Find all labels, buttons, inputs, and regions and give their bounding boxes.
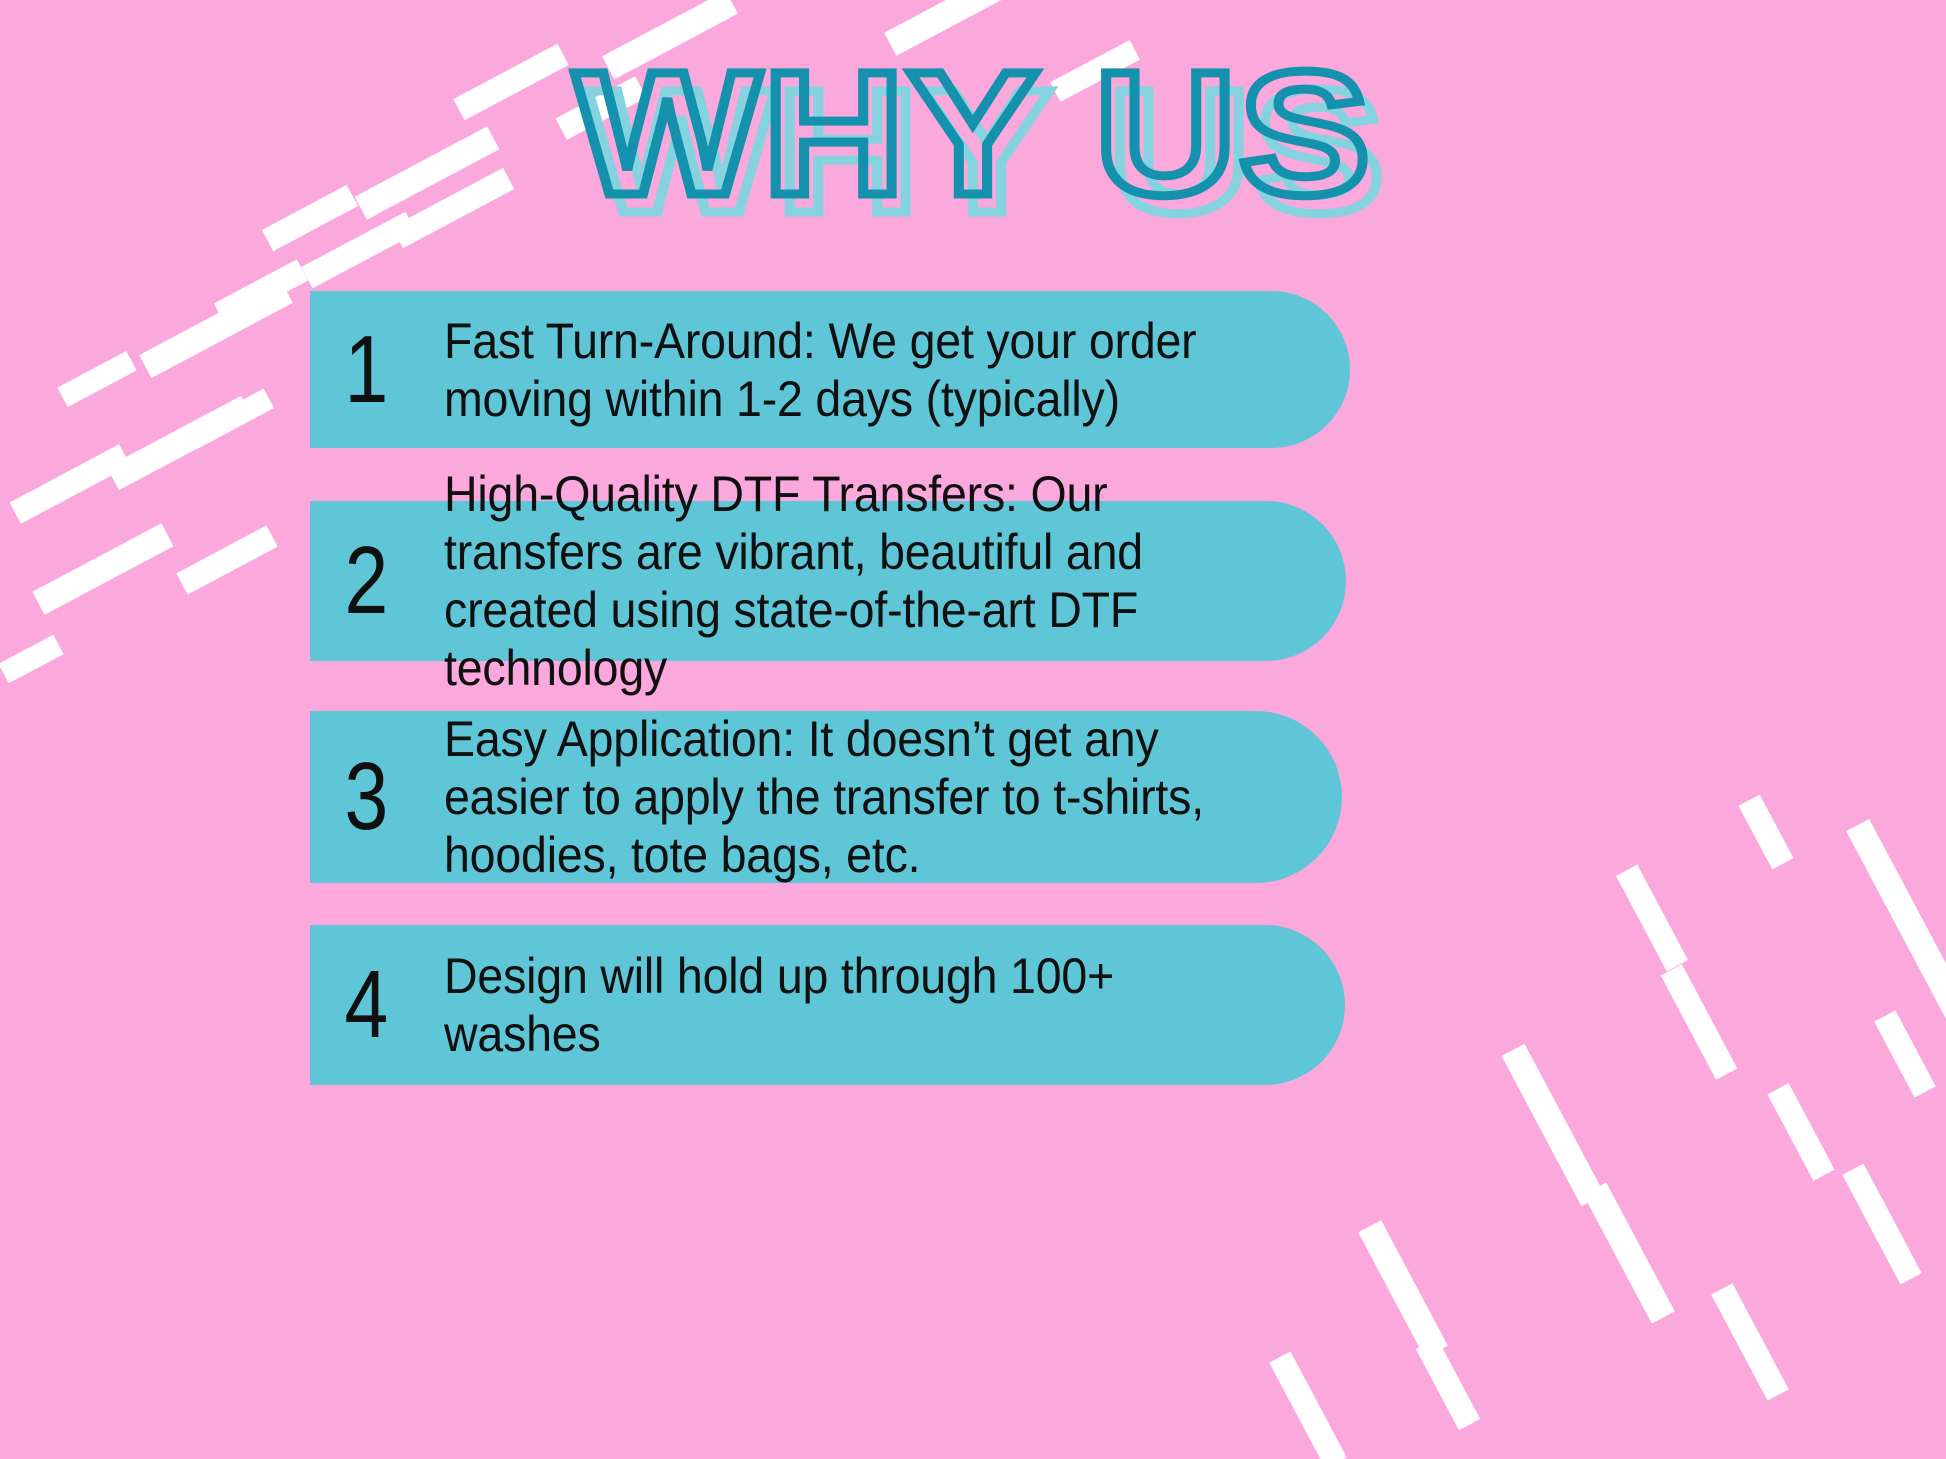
title-stack: WHY US WHY US [617, 46, 1330, 222]
benefit-card-text: Fast Turn-Around: We get your order movi… [444, 312, 1287, 428]
benefit-card-text: Easy Application: It doesn’t get any eas… [444, 710, 1279, 884]
benefit-card[interactable]: 4 Design will hold up through 100+ washe… [310, 925, 1345, 1085]
benefit-card[interactable]: 3 Easy Application: It doesn’t get any e… [310, 711, 1342, 883]
benefit-card[interactable]: 2 High-Quality DTF Transfers: Our transf… [310, 501, 1346, 661]
benefit-card-text: Design will hold up through 100+ washes [444, 947, 1282, 1063]
benefit-card-number: 4 [310, 959, 420, 1050]
benefit-card-number: 1 [310, 324, 420, 415]
poster-canvas: WHY US WHY US 1 Fast Turn-Around: We get… [0, 0, 1946, 1459]
benefit-card[interactable]: 1 Fast Turn-Around: We get your order mo… [310, 291, 1350, 448]
benefit-card-text: High-Quality DTF Transfers: Our transfer… [444, 465, 1283, 697]
title-main-text: WHY US [574, 46, 1372, 222]
benefit-card-number: 2 [310, 535, 420, 626]
benefit-card-number: 3 [310, 751, 420, 842]
